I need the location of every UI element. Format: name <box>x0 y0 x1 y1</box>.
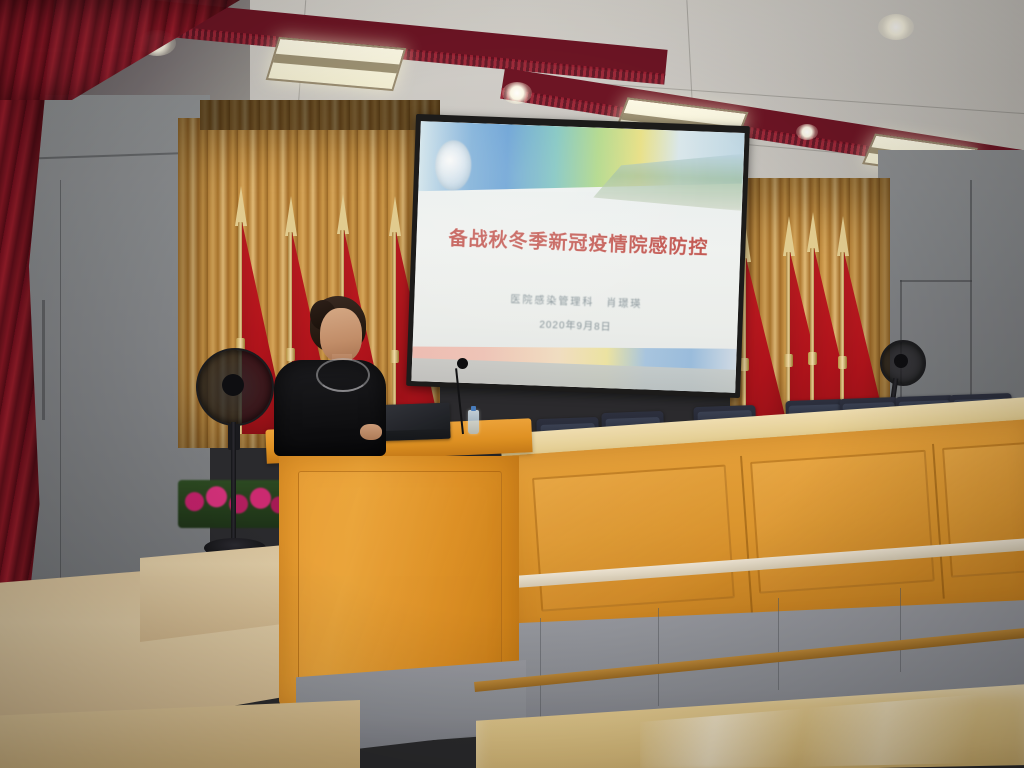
table-panel <box>942 442 1024 578</box>
flag-finial-icon <box>389 196 401 236</box>
tile-seam <box>778 598 779 690</box>
flag-finial-icon <box>285 196 297 236</box>
table-panel <box>750 450 935 594</box>
flag-finial-icon <box>783 216 795 256</box>
wall-seam <box>42 300 45 420</box>
flag-finial-icon <box>807 212 819 252</box>
presenter-hand <box>360 424 382 440</box>
presenter <box>268 296 390 456</box>
panel-light-bar <box>273 54 399 73</box>
recessed-downlight <box>796 124 818 140</box>
microphone-stem <box>455 368 464 434</box>
flag-finial-icon <box>837 216 849 256</box>
tile-seam <box>900 588 901 672</box>
fan-hub <box>222 374 244 396</box>
recessed-downlight <box>502 82 532 104</box>
slide-title: 备战秋冬季新冠疫情院感防控 <box>416 222 741 261</box>
table-panel <box>532 464 735 611</box>
presenter-collar <box>316 358 370 392</box>
flag-ring <box>390 350 399 363</box>
podium-front-panel <box>298 471 501 693</box>
flag-finial-icon <box>337 194 349 234</box>
conference-hall-scene: 备战秋冬季新冠疫情院感防控 医院感染管理科 肖璟瑛 2020年9月8日 <box>0 0 1024 768</box>
flag-ring <box>838 356 847 369</box>
flag-finial-icon <box>235 186 247 226</box>
tile-seam <box>540 618 541 722</box>
flag-ring <box>784 354 793 367</box>
bottle-cap <box>471 406 477 411</box>
recessed-downlight <box>878 14 914 40</box>
stage-curtain-gold-upper <box>200 100 440 130</box>
projection-screen[interactable]: 备战秋冬季新冠疫情院感防控 医院感染管理科 肖璟瑛 2020年9月8日 <box>411 121 744 393</box>
slide-date: 2020年9月8日 <box>413 311 737 338</box>
fan-hub <box>894 354 908 368</box>
slide-subtitle: 医院感染管理科 肖璟瑛 <box>414 287 738 314</box>
water-bottle[interactable] <box>468 410 479 434</box>
tile-seam <box>658 608 659 706</box>
wall-seam <box>900 280 972 282</box>
pedestal-fan <box>196 348 274 560</box>
fan-pole <box>231 422 236 550</box>
microphone-head-icon <box>457 358 468 369</box>
wall-seam <box>60 180 61 600</box>
flag-ring <box>808 352 817 365</box>
flag-ring <box>740 358 749 371</box>
presentation-slide: 备战秋冬季新冠疫情院感防控 医院感染管理科 肖璟瑛 2020年9月8日 <box>411 121 744 393</box>
